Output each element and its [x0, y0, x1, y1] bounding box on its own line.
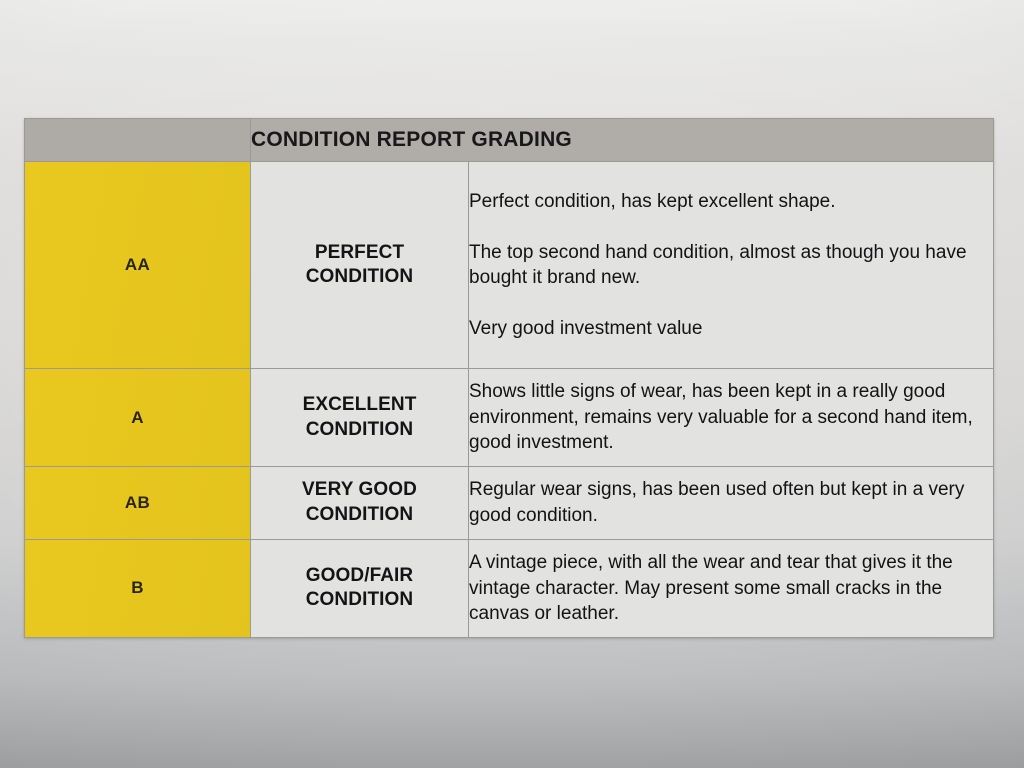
- photographed-page: CONDITION REPORT GRADING AA PERFECT COND…: [0, 0, 1024, 768]
- grade-label-a: A: [25, 369, 251, 466]
- table-body: AA PERFECT CONDITION Perfect condition, …: [25, 162, 994, 638]
- table-row: AB VERY GOOD CONDITION Regular wear sign…: [25, 466, 994, 539]
- condition-name-ab: VERY GOOD CONDITION: [251, 466, 469, 539]
- grade-label-ab: AB: [25, 466, 251, 539]
- condition-name-line1: GOOD/FAIR: [306, 565, 414, 586]
- condition-name-line2: CONDITION: [306, 266, 414, 287]
- description-paragraph: Perfect condition, has kept excellent sh…: [469, 189, 993, 214]
- header-grade-blank: [25, 119, 251, 162]
- condition-name-a: EXCELLENT CONDITION: [251, 369, 469, 466]
- condition-description-aa: Perfect condition, has kept excellent sh…: [469, 162, 994, 369]
- condition-name-line1: VERY GOOD: [302, 479, 417, 500]
- description-paragraph: Regular wear signs, has been used often …: [469, 477, 993, 528]
- description-paragraph: A vintage piece, with all the wear and t…: [469, 550, 993, 626]
- table-header: CONDITION REPORT GRADING: [25, 119, 994, 162]
- table-row: B GOOD/FAIR CONDITION A vintage piece, w…: [25, 539, 994, 637]
- table-row: A EXCELLENT CONDITION Shows little signs…: [25, 369, 994, 466]
- header-row: CONDITION REPORT GRADING: [25, 119, 994, 162]
- description-paragraph: The top second hand condition, almost as…: [469, 240, 993, 291]
- grade-label-aa: AA: [25, 162, 251, 369]
- condition-name-line1: PERFECT: [315, 242, 404, 263]
- table-row: AA PERFECT CONDITION Perfect condition, …: [25, 162, 994, 369]
- condition-name-line2: CONDITION: [306, 589, 414, 610]
- description-paragraph: Shows little signs of wear, has been kep…: [469, 379, 993, 455]
- condition-name-aa: PERFECT CONDITION: [251, 162, 469, 369]
- condition-report-grading-table: CONDITION REPORT GRADING AA PERFECT COND…: [24, 118, 994, 638]
- condition-name-line2: CONDITION: [306, 504, 414, 525]
- condition-name-line2: CONDITION: [306, 419, 414, 440]
- condition-description-b: A vintage piece, with all the wear and t…: [469, 539, 994, 637]
- condition-name-line1: EXCELLENT: [303, 394, 417, 415]
- condition-description-a: Shows little signs of wear, has been kep…: [469, 369, 994, 466]
- condition-description-ab: Regular wear signs, has been used often …: [469, 466, 994, 539]
- grade-label-b: B: [25, 539, 251, 637]
- description-paragraph: Very good investment value: [469, 316, 993, 341]
- condition-name-b: GOOD/FAIR CONDITION: [251, 539, 469, 637]
- table-title: CONDITION REPORT GRADING: [251, 119, 994, 162]
